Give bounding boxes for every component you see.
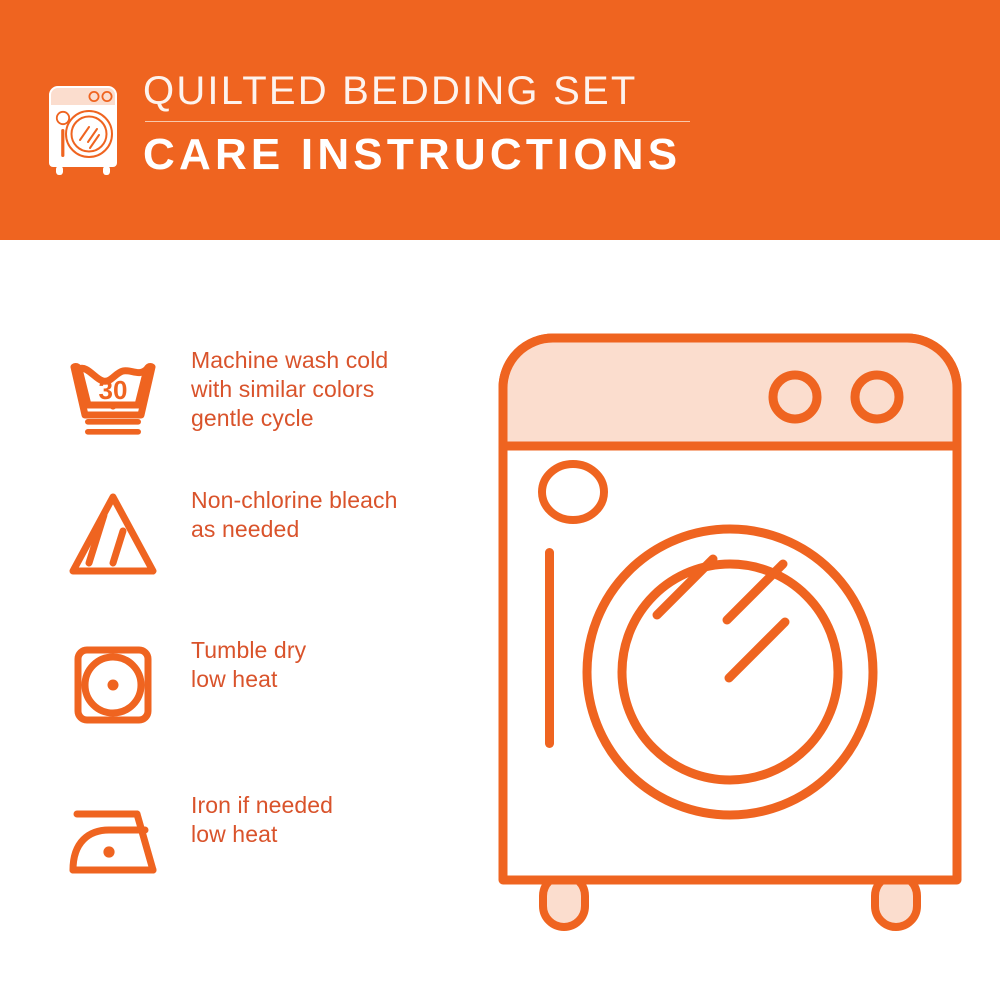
care-row-wash: 30 Machine wash cold with similar colors…	[48, 340, 478, 450]
care-line: low heat	[191, 665, 306, 694]
care-line: as needed	[191, 515, 397, 544]
wash-tub-30-gentle-icon: 30	[48, 340, 178, 450]
washing-machine-logo	[44, 72, 124, 176]
product-title: QUILTED BEDDING SET	[143, 66, 703, 116]
knob-left[interactable]	[773, 375, 817, 419]
washing-machine-icon	[44, 72, 124, 176]
care-line: low heat	[191, 820, 333, 849]
care-line: Machine wash cold	[191, 346, 388, 375]
care-text-wash: Machine wash cold with similar colors ge…	[178, 340, 388, 433]
header-banner: QUILTED BEDDING SET CARE INSTRUCTIONS	[0, 0, 1000, 240]
knob-right[interactable]	[855, 375, 899, 419]
care-line: Non-chlorine bleach	[191, 486, 397, 515]
care-line: gentle cycle	[191, 404, 388, 433]
care-instructions-infographic: QUILTED BEDDING SET CARE INSTRUCTIONS 30	[0, 0, 1000, 1000]
iron-low-heat-icon	[48, 785, 178, 895]
care-text-tumble-dry: Tumble dry low heat	[178, 630, 306, 694]
tumble-dry-low-heat-icon	[48, 630, 178, 740]
title-divider	[145, 121, 690, 122]
header-titles: QUILTED BEDDING SET CARE INSTRUCTIONS	[143, 66, 703, 182]
care-line: Tumble dry	[191, 636, 306, 665]
care-row-iron: Iron if needed low heat	[48, 785, 478, 895]
care-row-bleach: Non-chlorine bleach as needed	[48, 480, 478, 590]
care-instruction-list: 30 Machine wash cold with similar colors…	[0, 240, 480, 1000]
washing-machine-illustration	[495, 330, 965, 930]
care-line: Iron if needed	[191, 791, 333, 820]
page-title: CARE INSTRUCTIONS	[143, 128, 703, 182]
triangle-non-chlorine-bleach-icon	[48, 480, 178, 590]
wash-temperature-label: 30	[99, 375, 128, 405]
care-text-bleach: Non-chlorine bleach as needed	[178, 480, 397, 544]
care-line: with similar colors	[191, 375, 388, 404]
care-row-tumble-dry: Tumble dry low heat	[48, 630, 478, 740]
status-bar	[545, 548, 554, 748]
care-text-iron: Iron if needed low heat	[178, 785, 333, 849]
